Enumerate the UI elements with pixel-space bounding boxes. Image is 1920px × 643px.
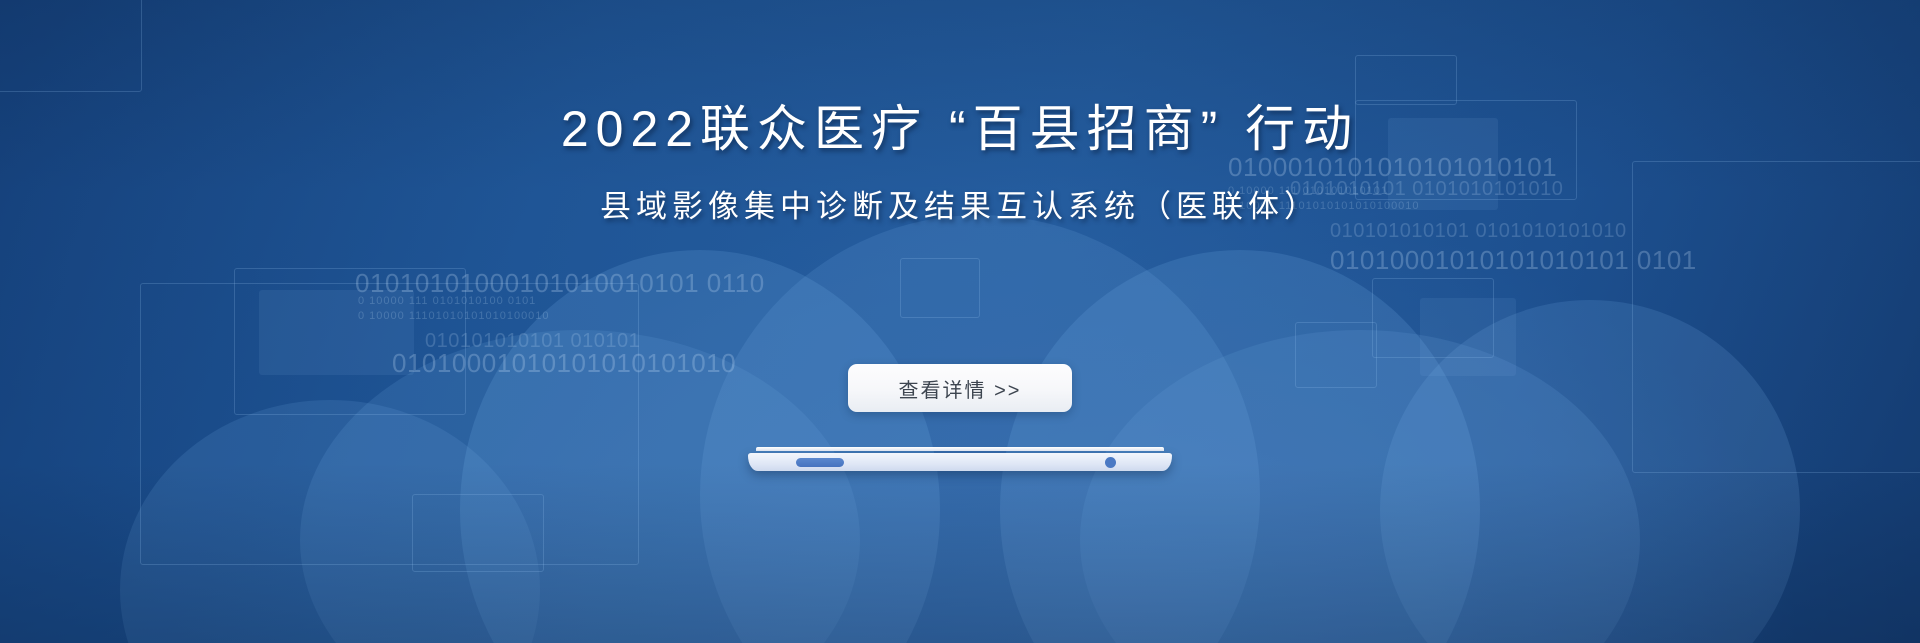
promo-banner: 01010101000101010010101 0110 0 10000 111…: [0, 0, 1920, 643]
laptop-indicator-dot: [1105, 457, 1116, 468]
decor-rect-outline: [0, 0, 142, 92]
decor-rect-outline: [900, 258, 980, 318]
banner-heading-block: 2022联众医疗 “百县招商” 行动 县域影像集中诊断及结果互认系统（医联体）: [0, 100, 1920, 227]
view-details-button[interactable]: 查看详情 >>: [848, 364, 1072, 412]
binary-decor-text: 0 10000 11101010101010100010: [358, 310, 550, 322]
laptop-lid-edge: [756, 447, 1164, 451]
banner-subtitle: 县域影像集中诊断及结果互认系统（医联体）: [0, 187, 1920, 227]
decor-rect-outline: [412, 494, 544, 572]
decor-rect-outline: [1355, 55, 1457, 105]
view-details-label: 查看详情 >>: [899, 374, 1022, 403]
cta-row: 查看详情 >>: [0, 364, 1920, 412]
binary-decor-text: 0 10000 111 0101010100 0101: [358, 295, 536, 307]
binary-decor-text: 01010001010101010101 0101: [1330, 245, 1697, 276]
laptop-port-icon: [796, 458, 844, 467]
laptop-base-illustration: [748, 447, 1172, 475]
banner-title: 2022联众医疗 “百县招商” 行动: [0, 100, 1920, 159]
